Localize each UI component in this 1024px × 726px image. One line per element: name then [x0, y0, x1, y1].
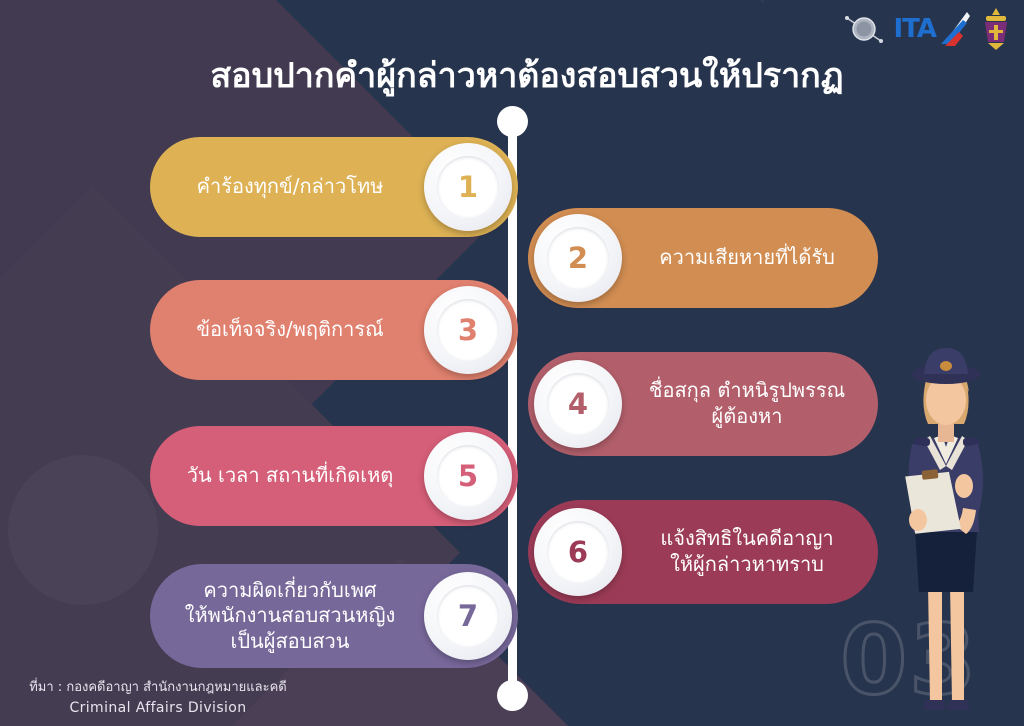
step-pill-7[interactable]: ความผิดเกี่ยวกับเพศ ให้พนักงานสอบสวนหญิง…: [150, 564, 518, 668]
step-pill-2[interactable]: 2ความเสียหายที่ได้รับ: [528, 208, 878, 308]
source-credit-th: ที่มา : กองคดีอาญา สำนักงานกฎหมายและคดี: [8, 679, 308, 698]
step-pill-5[interactable]: วัน เวลา สถานที่เกิดเหตุ5: [150, 426, 518, 526]
step-number-badge-6: 6: [534, 508, 622, 596]
step-number-4: 4: [568, 387, 588, 421]
step-number-badge-3: 3: [424, 286, 512, 374]
step-label-7: ความผิดเกี่ยวกับเพศ ให้พนักงานสอบสวนหญิง…: [150, 578, 418, 655]
ita-logo-text: ITA: [893, 14, 936, 44]
step-number-badge-1: 1: [424, 143, 512, 231]
royal-emblem-logo: [980, 7, 1012, 51]
police-emblem-logo: [844, 8, 884, 50]
step-number-3: 3: [458, 313, 478, 347]
step-number-badge-2: 2: [534, 214, 622, 302]
step-pill-1[interactable]: คำร้องทุกข์/กล่าวโทษ1: [150, 137, 518, 237]
step-number-5: 5: [458, 459, 478, 493]
step-label-2: ความเสียหายที่ได้รับ: [628, 245, 878, 271]
step-number-badge-5: 5: [424, 432, 512, 520]
infographic-canvas: 03 ITA สอบปากคำผู้กล่าวหาต้อ: [0, 0, 1024, 726]
source-credit-en: Criminal Affairs Division: [8, 698, 308, 718]
logo-cluster: ITA: [844, 6, 1012, 52]
step-pill-6[interactable]: 6แจ้งสิทธิในคดีอาญา ให้ผู้กล่าวหาทราบ: [528, 500, 878, 604]
ita-logo: ITA: [893, 10, 971, 48]
step-label-6: แจ้งสิทธิในคดีอาญา ให้ผู้กล่าวหาทราบ: [628, 526, 878, 577]
page-title: สอบปากคำผู้กล่าวหาต้องสอบสวนให้ปรากฏ: [0, 48, 1024, 102]
source-credit: ที่มา : กองคดีอาญา สำนักงานกฎหมายและคดี …: [8, 679, 308, 718]
step-number-2: 2: [568, 241, 588, 275]
step-label-3: ข้อเท็จจริง/พฤติการณ์: [150, 317, 418, 343]
step-number-1: 1: [458, 170, 478, 204]
bg-circle-accent: [8, 455, 158, 605]
ita-swoosh-icon: [937, 10, 971, 48]
step-pill-4[interactable]: 4ชื่อสกุล ตำหนิรูปพรรณ ผู้ต้องหา: [528, 352, 878, 456]
step-number-badge-4: 4: [534, 360, 622, 448]
step-number-badge-7: 7: [424, 572, 512, 660]
timeline-dot-top: [497, 106, 528, 137]
step-label-5: วัน เวลา สถานที่เกิดเหตุ: [150, 463, 418, 489]
step-number-7: 7: [458, 599, 478, 633]
timeline-dot-bottom: [497, 680, 528, 711]
step-number-6: 6: [568, 535, 588, 569]
step-label-1: คำร้องทุกข์/กล่าวโทษ: [150, 174, 418, 200]
step-label-4: ชื่อสกุล ตำหนิรูปพรรณ ผู้ต้องหา: [628, 378, 878, 429]
step-pill-3[interactable]: ข้อเท็จจริง/พฤติการณ์3: [150, 280, 518, 380]
female-police-officer-illustration: [868, 334, 1018, 726]
